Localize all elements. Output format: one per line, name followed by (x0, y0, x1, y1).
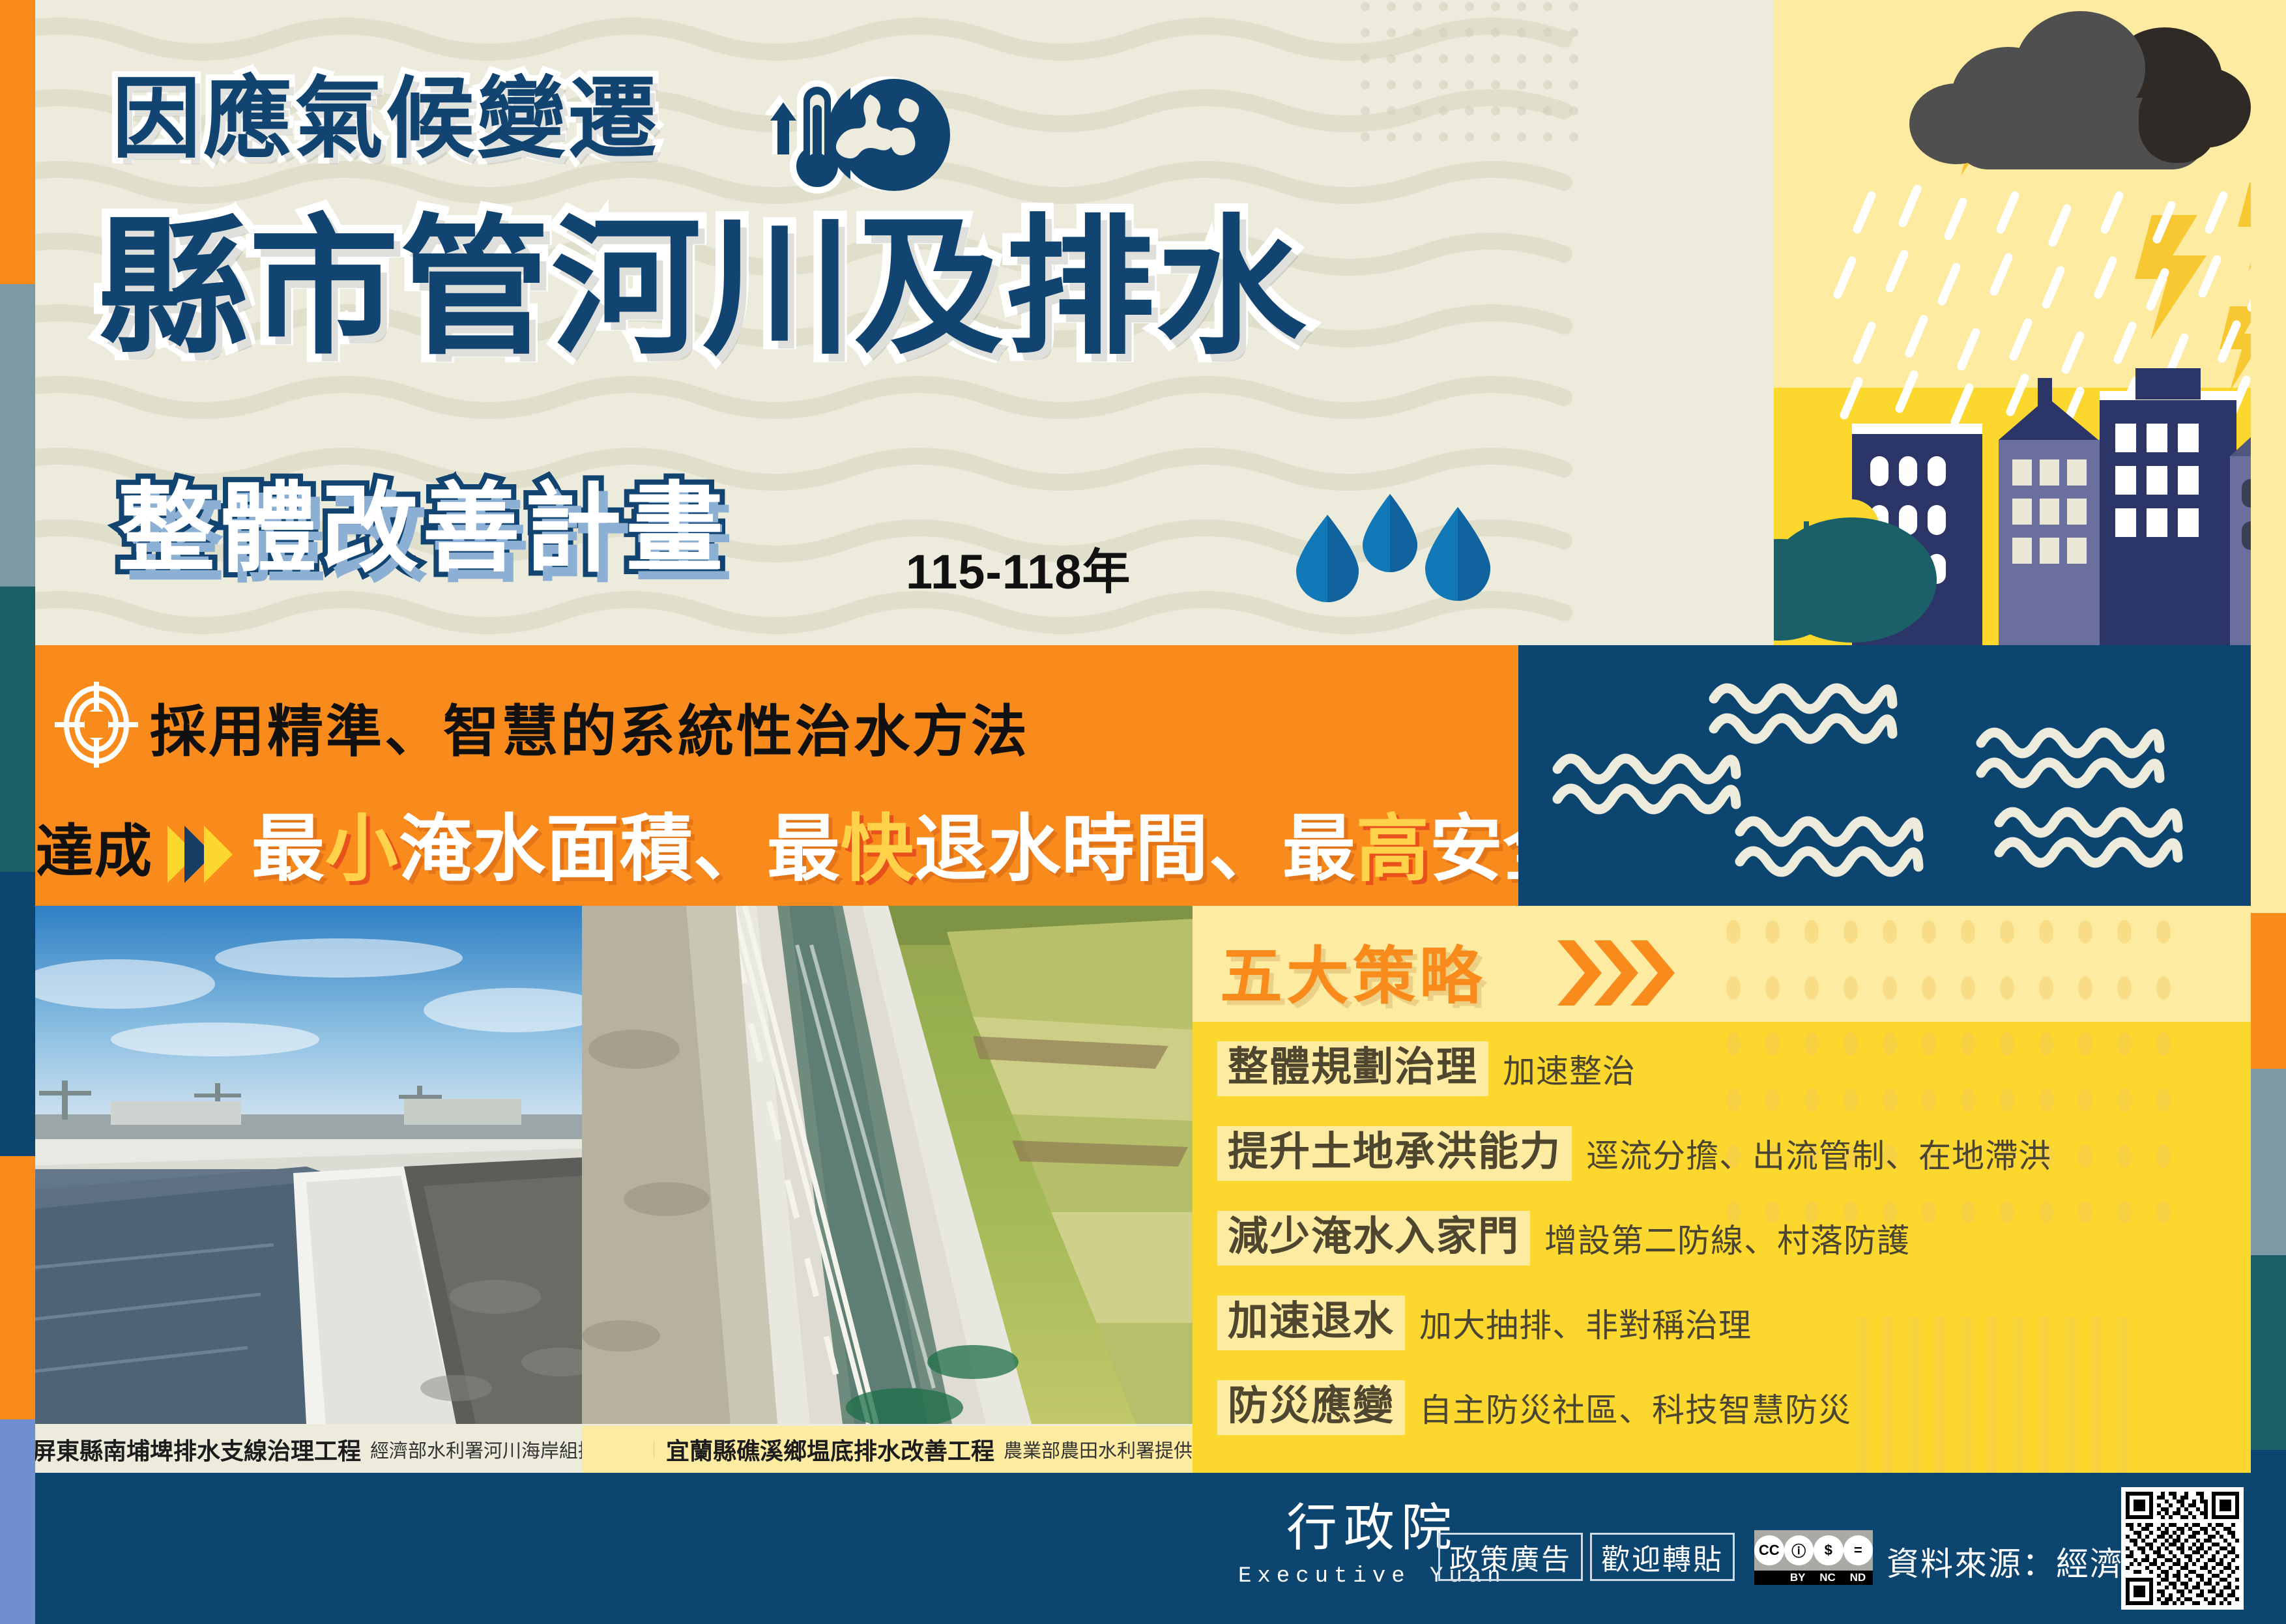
plan-years: 115-118年 (906, 533, 1131, 603)
strategy-desc-4: 加大抽排、非對稱治理 (1419, 1299, 1752, 1346)
page-title-line1: 因應氣候變遷 (112, 47, 659, 175)
strategy-tag-1: 整體規劃治理 (1217, 1041, 1488, 1096)
cc-label-by: BY (1790, 1571, 1806, 1584)
band-goal-2: 最快退水時間 (767, 808, 1209, 890)
double-chevron-right-icon (165, 823, 237, 886)
edge-color-block-5 (2251, 1450, 2286, 1624)
band-sep-1: 、 (693, 808, 767, 890)
water-drops-icon (1287, 489, 1502, 606)
photo-b-graphic (582, 906, 1193, 1424)
data-source-label: 資料來源：經濟部 (1887, 1538, 2158, 1585)
yilan-jiaoxi-drainage-photo (582, 906, 1193, 1424)
edge-color-block-1 (0, 0, 35, 284)
cc-by-nc-nd-icon[interactable]: CC ⓘ $ = BY NC ND (1754, 1530, 1873, 1585)
strategy-item-2[interactable]: 提升土地承洪能力 逕流分擔、出流管制、在地滯洪 (1217, 1126, 2051, 1181)
page-title-line3: 整體改善計畫 (117, 450, 727, 591)
edge-color-block-6 (0, 1419, 35, 1624)
storm-city-illustration (1774, 0, 2286, 645)
right-edge-color-bars (2251, 0, 2286, 1624)
cc-mark-nc: $ (1814, 1535, 1844, 1565)
strategy-item-5[interactable]: 防災應變 自主防災社區、科技智慧防災 (1217, 1380, 1851, 1435)
poster-root: 因應氣候變遷 縣市管河川及排水 整體改善計畫 115-118年 (0, 0, 2286, 1624)
water-waves-icon (1518, 645, 2251, 906)
edge-color-block-1 (2251, 0, 2286, 913)
page-title-line2: 縣市管河川及排水 (98, 166, 1307, 383)
cc-label-nc: NC (1819, 1571, 1836, 1584)
strategy-stripe-pattern (1857, 1316, 2137, 1473)
thermometer-globe-icon (766, 68, 961, 199)
strategy-tag-4: 加速退水 (1217, 1296, 1405, 1350)
footer-bar: 行政院 Executive Yuan 政策廣告 歡迎轉貼 CC ⓘ $ = BY… (0, 1473, 2286, 1624)
triple-chevron-right-icon (1557, 937, 1688, 1009)
strategy-desc-3: 增設第二防線、村落防護 (1544, 1215, 1910, 1262)
cc-mark-by: ⓘ (1784, 1535, 1814, 1565)
strategy-tag-5: 防災應變 (1217, 1380, 1405, 1435)
cloud-icon (1909, 11, 2251, 169)
target-crosshair-icon (51, 679, 142, 770)
photo-caption-b: 宜蘭縣礁溪鄉塭底排水改善工程 農業部農田水利署提供 (582, 1426, 1193, 1473)
strategy-dot-pattern (1720, 918, 2177, 1256)
header-section: 因應氣候變遷 縣市管河川及排水 整體改善計畫 115-118年 (0, 0, 2286, 645)
pingtung-drainage-photo (0, 906, 582, 1424)
edge-color-block-4 (2251, 1255, 2286, 1450)
strategy-panel: 五大策略 整體規劃治理 加速整治 提升土地承洪能力 逕流分擔、出流管制、在地滯洪… (1193, 906, 2251, 1473)
photo-caption-a: 屏東縣南埔埤排水支線治理工程 經濟部水利署河川海岸組提供 (0, 1426, 582, 1473)
band-sep-2: 、 (1209, 808, 1282, 890)
cc-label-nd: ND (1850, 1571, 1866, 1584)
qr-code-icon[interactable] (2121, 1487, 2244, 1610)
strategy-desc-1: 加速整治 (1503, 1045, 1636, 1092)
caption-bullet-icon (654, 1441, 654, 1458)
strategy-item-1[interactable]: 整體規劃治理 加速整治 (1217, 1041, 1636, 1096)
cc-mark-nd: = (1844, 1535, 1874, 1565)
band-goal-1: 最小淹水面積 (252, 808, 693, 890)
policy-ad-badge[interactable]: 政策廣告 (1438, 1533, 1583, 1581)
left-edge-color-bars (0, 0, 35, 1624)
caption-a-source: 經濟部水利署河川海岸組提供 (370, 1436, 616, 1463)
cc-label-row: BY NC ND (1783, 1571, 1873, 1585)
strategy-tag-2: 提升土地承洪能力 (1217, 1126, 1572, 1181)
edge-color-block-3 (0, 587, 35, 873)
edge-color-block-3 (2251, 1069, 2286, 1256)
band-goal-3: 最高安全標準 (1282, 808, 1518, 890)
strategy-item-4[interactable]: 加速退水 加大抽排、非對稱治理 (1217, 1296, 1752, 1350)
header-dot-pattern (1359, 0, 1593, 196)
photo-a-graphic (0, 906, 582, 1424)
strategy-desc-2: 逕流分擔、出流管制、在地滯洪 (1586, 1130, 2051, 1177)
edge-color-block-2 (0, 284, 35, 587)
strategy-item-3[interactable]: 減少淹水入家門 增設第二防線、村落防護 (1217, 1211, 1910, 1266)
band-prefix-label: 達成 (36, 819, 153, 884)
edge-color-block-2 (2251, 913, 2286, 1069)
caption-b-title: 宜蘭縣礁溪鄉塭底排水改善工程 (666, 1432, 994, 1466)
band-headline: 採用精準、智慧的系統性治水方法 (150, 686, 1030, 767)
orange-strategy-band: 採用精準、智慧的系統性治水方法 達成 最小淹水面積、最快退水時間、最高安全標準 (0, 645, 1518, 906)
strategy-title: 五大策略 (1220, 925, 1486, 1016)
strategy-tag-3: 減少淹水入家門 (1217, 1211, 1530, 1266)
cc-mark-cc: CC (1754, 1535, 1784, 1565)
band-goals-row: 達成 最小淹水面積、最快退水時間、最高安全標準 (36, 790, 1518, 895)
water-waves-panel (1518, 645, 2251, 906)
cc-marks-row: CC ⓘ $ = (1754, 1530, 1873, 1571)
caption-a-title: 屏東縣南埔埤排水支線治理工程 (33, 1432, 361, 1466)
edge-color-block-5 (0, 1156, 35, 1419)
repost-welcome-badge[interactable]: 歡迎轉貼 (1590, 1533, 1735, 1581)
caption-b-source: 農業部農田水利署提供 (1004, 1436, 1193, 1463)
photos-section: 屏東縣南埔埤排水支線治理工程 經濟部水利署河川海岸組提供 宜蘭縣礁溪鄉塭底排水改… (0, 906, 1193, 1473)
strategy-desc-5: 自主防災社區、科技智慧防災 (1419, 1384, 1851, 1431)
qr-code-graphic (2126, 1492, 2239, 1605)
edge-color-block-4 (0, 872, 35, 1156)
